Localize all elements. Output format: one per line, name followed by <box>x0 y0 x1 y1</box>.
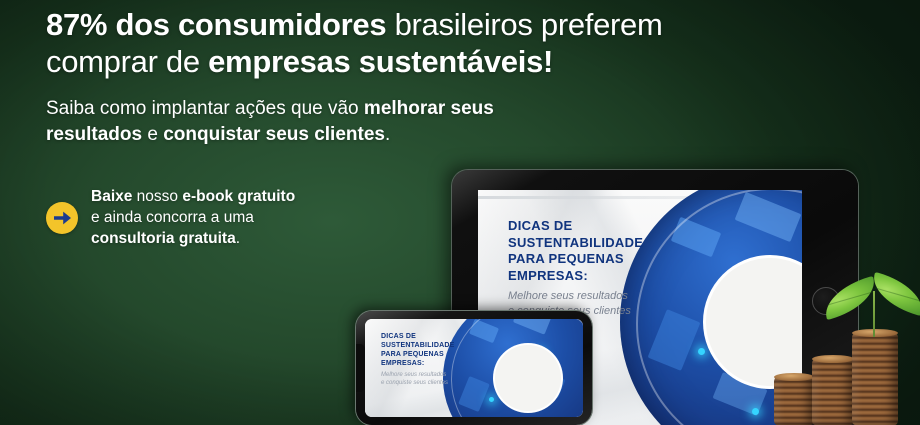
cta-line3-bold: consultoria gratuita <box>91 230 236 247</box>
phone-subtitle-line2: e conquiste seus clientes <box>381 379 485 387</box>
coin-stack-small <box>774 377 814 425</box>
headline-line2-bold: empresas sustentáveis! <box>208 44 553 79</box>
headline-block: 87% dos consumidores brasileiros prefere… <box>46 6 566 148</box>
cta-line3-end: . <box>236 230 240 247</box>
subhead-line-1: Saiba como implantar ações que vão melho… <box>46 96 566 122</box>
headline-stat: 87% dos consumidores <box>46 7 386 42</box>
subhead-line2-bold-a: resultados <box>46 124 142 145</box>
plant-stem <box>873 291 875 337</box>
tablet-title-line1: DICAS DE <box>508 218 693 235</box>
subhead-line2-end: . <box>385 124 390 145</box>
tablet-title-line3: PARA PEQUENAS <box>508 251 693 268</box>
phone-device: DICAS DE SUSTENTABILIDADE PARA PEQUENAS … <box>356 311 592 425</box>
cta-line1-bold-b: e-book gratuito <box>182 188 295 205</box>
headline-line-2: comprar de empresas sustentáveis! <box>46 43 566 80</box>
arrow-right-icon[interactable] <box>46 202 78 234</box>
subhead-line-2: resultados e conquistar seus clientes. <box>46 122 566 148</box>
phone-title-line3: PARA PEQUENAS <box>381 350 485 359</box>
phone-title-line1: DICAS DE <box>381 332 485 341</box>
cta-line1-bold: Baixe <box>91 188 132 205</box>
tablet-cover-copy: DICAS DE SUSTENTABILIDADE PARA PEQUENAS … <box>508 218 693 318</box>
cta-line-3: consultoria gratuita. <box>91 228 295 249</box>
phone-subtitle-line1: Melhore seus resultados <box>381 371 485 379</box>
subhead-line1-bold: melhorar seus <box>364 98 494 119</box>
coin-stack-large <box>852 333 898 425</box>
phone-notch <box>356 344 365 392</box>
tablet-title-line2: SUSTENTABILIDADE <box>508 235 693 252</box>
cta-line-1: Baixe nosso e-book gratuito <box>91 186 295 207</box>
cta-line1-light: nosso <box>132 188 182 205</box>
headline-line-1: 87% dos consumidores brasileiros prefere… <box>46 6 566 43</box>
phone-arc-inner-circle <box>495 345 561 411</box>
phone-title-line4: EMPRESAS: <box>381 359 485 368</box>
coin-stack-medium <box>812 359 854 425</box>
phone-title-line2: SUSTENTABILIDADE <box>381 341 485 350</box>
cta-line-2: e ainda concorra a uma <box>91 207 295 228</box>
subhead-line1-light: Saiba como implantar ações que vão <box>46 98 364 119</box>
cta-block[interactable]: Baixe nosso e-book gratuito e ainda conc… <box>46 186 295 249</box>
cta-text: Baixe nosso e-book gratuito e ainda conc… <box>91 186 295 249</box>
tablet-subtitle-line1: Melhore seus resultados <box>508 289 693 304</box>
subhead-line2-light: e <box>142 124 163 145</box>
subhead-line2-bold-b: conquistar seus clientes <box>163 124 385 145</box>
headline-line2-light: comprar de <box>46 44 208 79</box>
phone-screen: DICAS DE SUSTENTABILIDADE PARA PEQUENAS … <box>365 319 583 417</box>
promo-banner: DICAS DE SUSTENTABILIDADE PARA PEQUENAS … <box>0 0 920 425</box>
coin-stacks-with-plant <box>772 316 920 425</box>
tablet-title-line4: EMPRESAS: <box>508 268 693 285</box>
headline-line1-rest: brasileiros preferem <box>386 7 662 42</box>
phone-cover-copy: DICAS DE SUSTENTABILIDADE PARA PEQUENAS … <box>381 332 485 387</box>
